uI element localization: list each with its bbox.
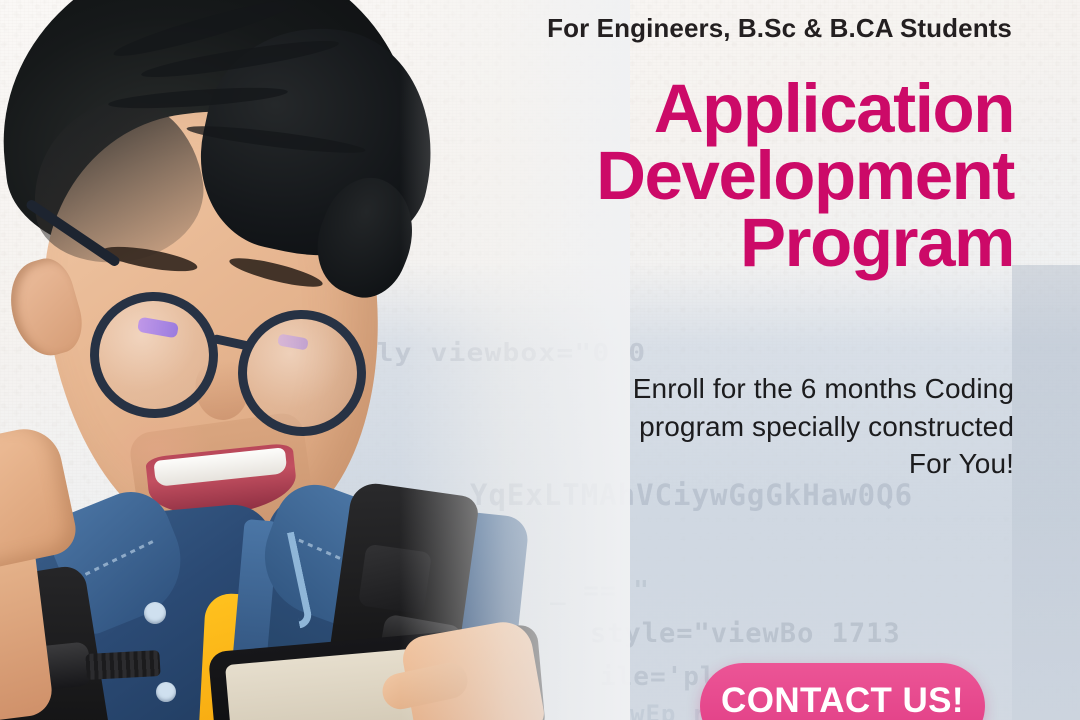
subhead-line-2: program specially constructed xyxy=(420,408,1014,446)
headline-line-2: Development xyxy=(0,143,1014,210)
headline-line-1: Application xyxy=(0,76,1014,143)
code-line: style="viewBo 1713 xyxy=(590,618,901,649)
subhead-line-3: For You! xyxy=(420,445,1014,483)
audience-eyebrow-text: For Engineers, B.Sc & B.CA Students xyxy=(0,13,1012,44)
contact-us-button[interactable]: CONTACT US! xyxy=(700,663,985,720)
subhead-line-1: Enroll for the 6 months Coding xyxy=(420,370,1014,408)
promo-poster: Htmly viewbox="0 0 YqExLTMAhVCiywGgGkHaw… xyxy=(0,0,1080,720)
page-title: Application Development Program xyxy=(0,76,1014,277)
headline-line-3: Program xyxy=(0,210,1014,277)
jacket-button xyxy=(144,602,166,624)
program-description: Enroll for the 6 months Coding program s… xyxy=(420,370,1014,483)
jacket-button xyxy=(156,682,176,702)
backpack-webbing xyxy=(85,650,160,680)
